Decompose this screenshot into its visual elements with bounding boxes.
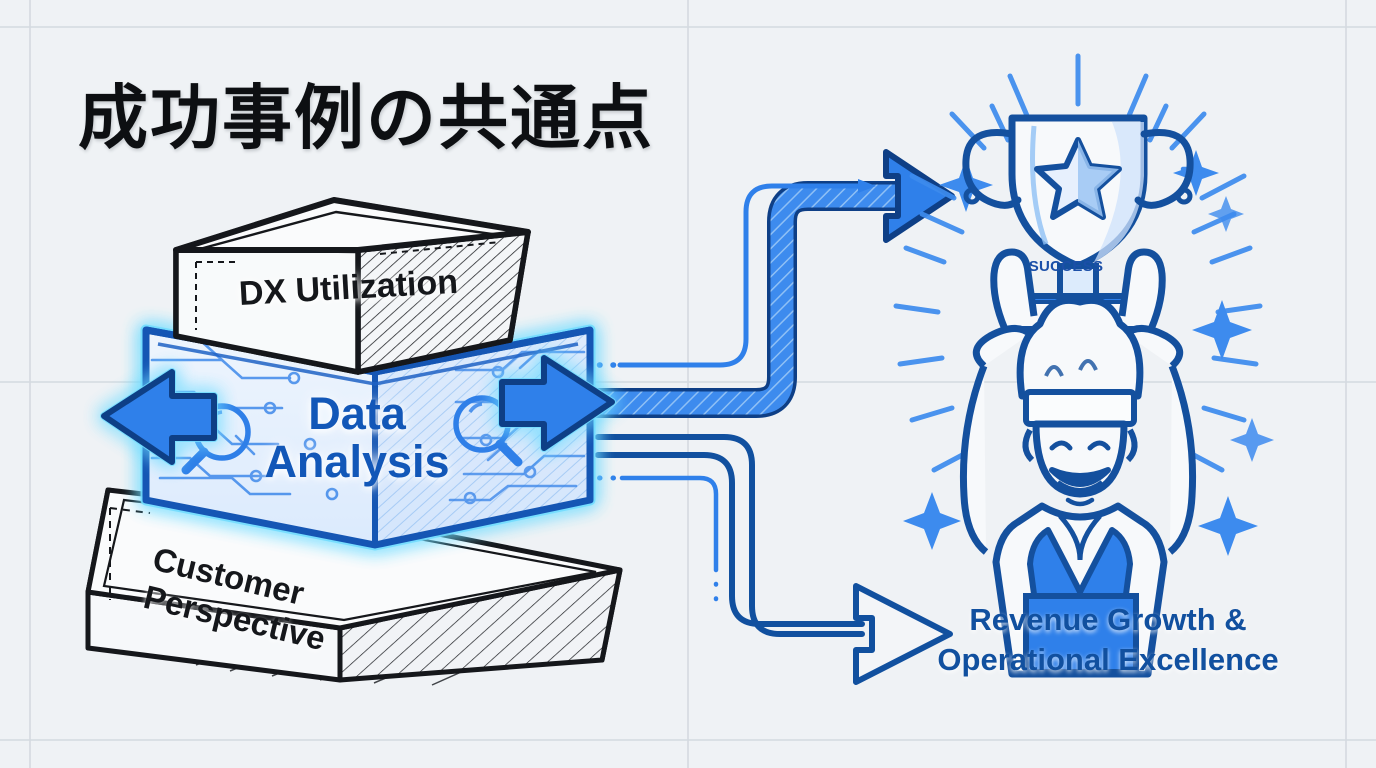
- arrow-outline-icon: [856, 586, 950, 682]
- page-title: 成功事例の共通点: [78, 62, 654, 163]
- connector-lower: [598, 437, 862, 634]
- diagram-canvas: 成功事例の共通点 DX Utilization Data Analysis Cu…: [0, 0, 1376, 768]
- chef-celebrating: [963, 252, 1192, 674]
- stack-layer-top: [176, 200, 528, 372]
